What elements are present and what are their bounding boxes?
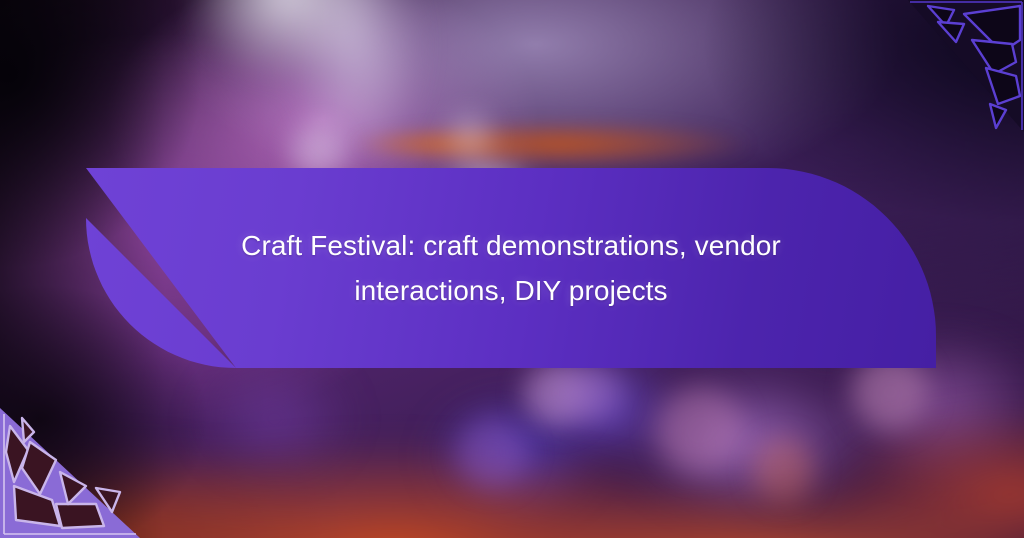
banner-card: Craft Festival: craft demonstrations, ve…	[0, 0, 1024, 538]
title-banner: Craft Festival: craft demonstrations, ve…	[86, 168, 936, 368]
banner-line-2: interactions, DIY projects	[354, 275, 667, 306]
banner-title-text: Craft Festival: craft demonstrations, ve…	[241, 223, 781, 314]
banner-line-1: Craft Festival: craft demonstrations, ve…	[241, 230, 781, 261]
